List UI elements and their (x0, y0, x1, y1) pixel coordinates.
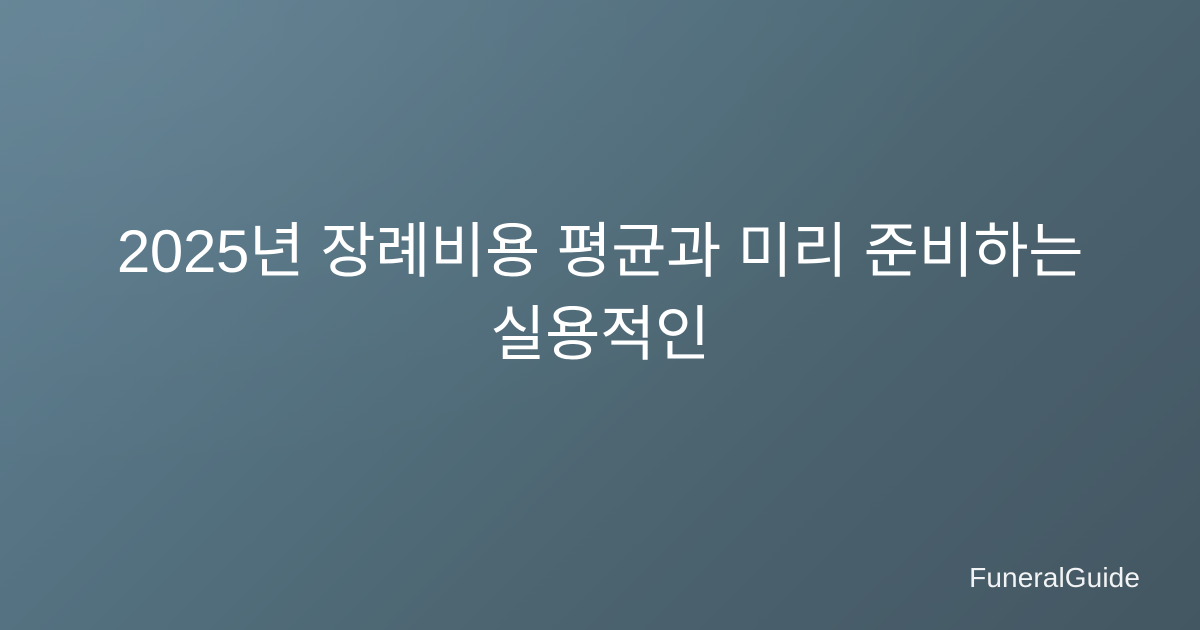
og-card: 2025년 장례비용 평균과 미리 준비하는 실용적인 FuneralGuide (0, 0, 1200, 630)
brand-watermark: FuneralGuide (969, 564, 1140, 592)
card-content: 2025년 장례비용 평균과 미리 준비하는 실용적인 FuneralGuide (0, 0, 1200, 630)
headline-block: 2025년 장례비용 평균과 미리 준비하는 실용적인 (0, 0, 1200, 630)
page-title: 2025년 장례비용 평균과 미리 준비하는 실용적인 (100, 211, 1100, 377)
